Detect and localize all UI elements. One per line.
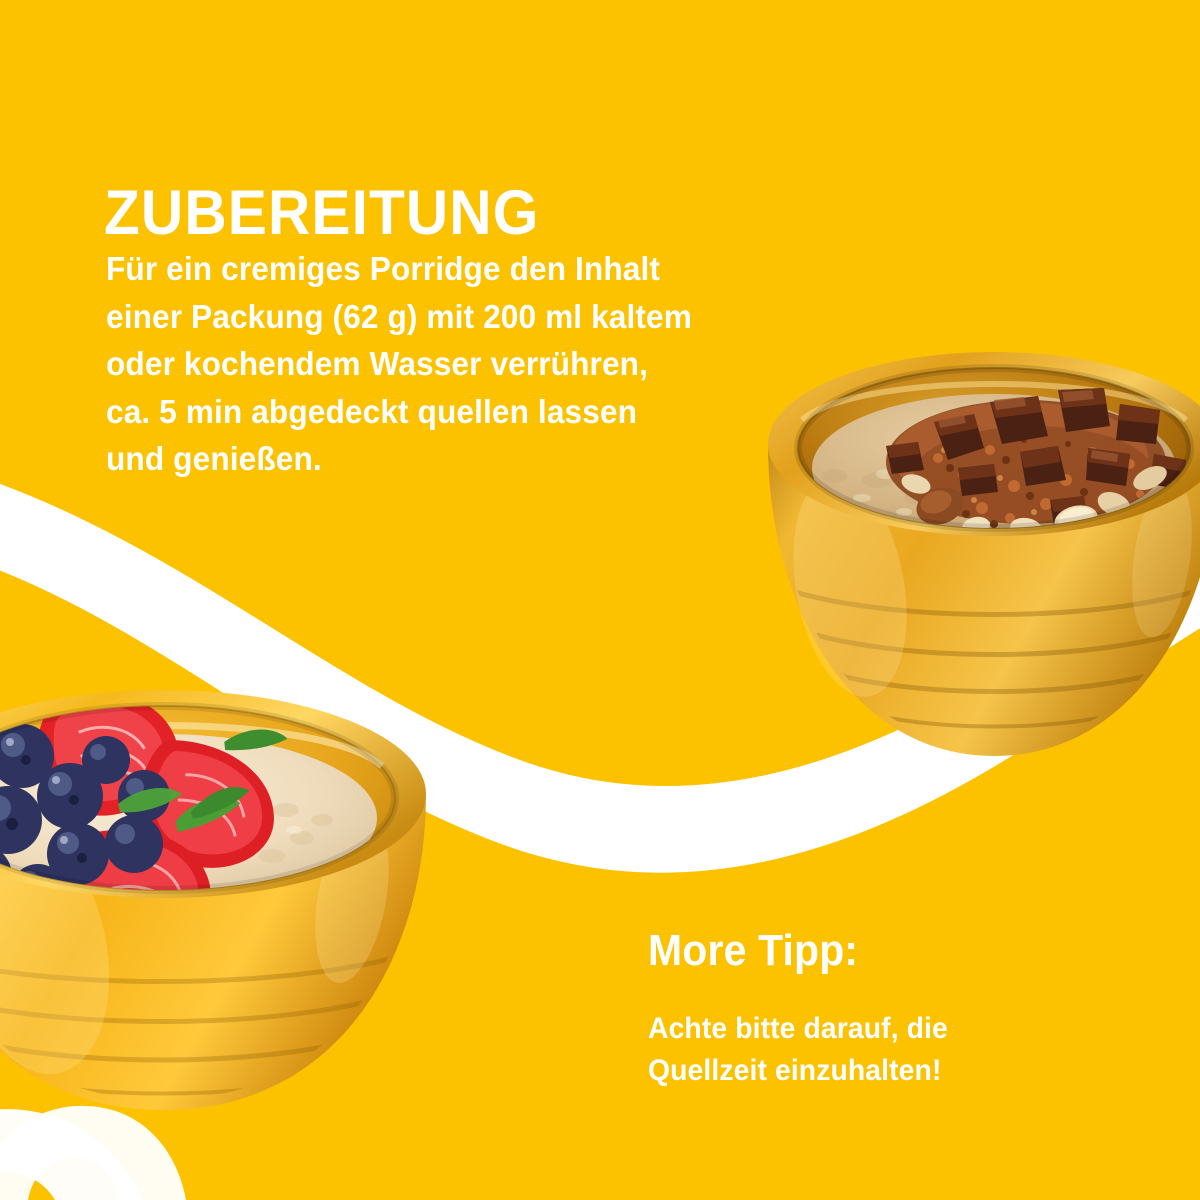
berry-porridge-bowl [0,648,442,1158]
tip-heading: More Tipp: [648,928,858,974]
chocolate-porridge-bowl [758,318,1200,778]
instruction-line: ca. 5 min abgedeckt quellen lassen [106,389,711,437]
instruction-line: und genießen. [106,436,711,484]
instruction-line: einer Packung (62 g) mit 200 ml kaltem [106,294,711,342]
preparation-instructions: Für ein cremiges Porridge den Inhalt ein… [106,246,711,484]
page-title: ZUBEREITUNG [104,182,539,245]
tip-line: Quellzeit einzuhalten! [648,1050,1045,1092]
poster-canvas: ZUBEREITUNG Für ein cremiges Porridge de… [0,0,1200,1200]
instruction-line: oder kochendem Wasser verrühren, [106,341,711,389]
instruction-line: Für ein cremiges Porridge den Inhalt [106,246,711,294]
tip-text: Achte bitte darauf, die Quellzeit einzuh… [648,1008,1045,1092]
tip-line: Achte bitte darauf, die [648,1008,1045,1050]
